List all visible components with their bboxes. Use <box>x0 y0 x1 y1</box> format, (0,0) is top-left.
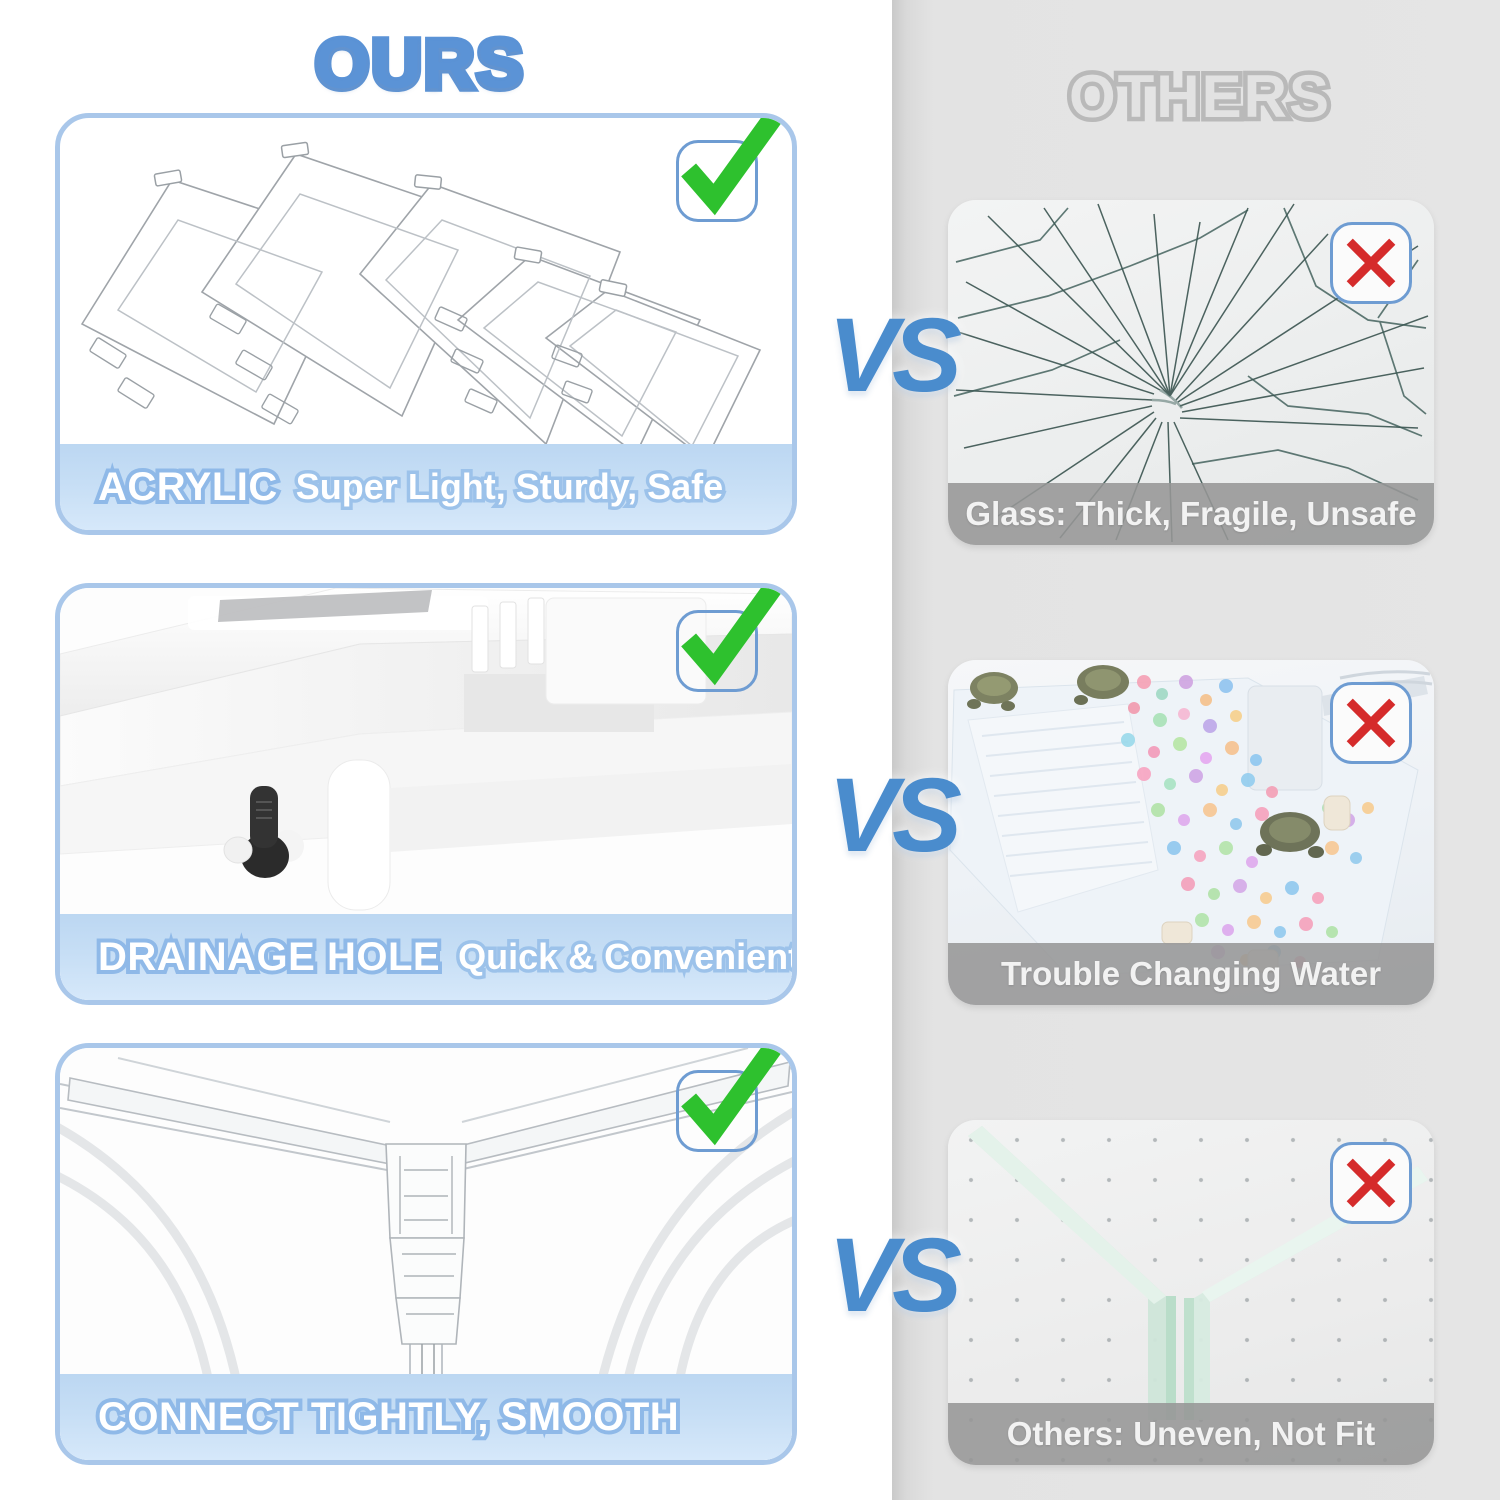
vs-label-3: VS <box>812 1216 972 1336</box>
check-badge <box>676 140 758 222</box>
others-caption-text-1: Glass: Thick, Fragile, Unsafe <box>965 495 1416 533</box>
ours-heading: OURS <box>0 24 840 104</box>
others-card-uneven-corner: Others: Uneven, Not Fit <box>948 1120 1434 1465</box>
x-badge <box>1330 1142 1412 1224</box>
ours-caption-highlight-2: DRAINAGE HOLE <box>98 935 440 980</box>
green-check-icon <box>665 1043 783 1157</box>
ours-caption-bar-1: ACRYLIC Super Light, Sturdy, Safe <box>60 444 792 530</box>
others-card-glass: Glass: Thick, Fragile, Unsafe <box>948 200 1434 545</box>
ours-card-drainage: DRAINAGE HOLE Quick & Convenient <box>55 583 797 1005</box>
ours-caption-bar-3: CONNECT TIGHTLY, SMOOTH <box>60 1374 792 1460</box>
vs-label-2: VS <box>812 756 972 876</box>
green-check-icon <box>665 113 783 227</box>
ours-card-acrylic: ACRYLIC Super Light, Sturdy, Safe <box>55 113 797 535</box>
x-badge <box>1330 682 1412 764</box>
others-heading-rest: THERS <box>1118 63 1331 130</box>
others-caption-text-2: Trouble Changing Water <box>1001 955 1381 993</box>
others-caption-bar-2: Trouble Changing Water <box>948 943 1434 1005</box>
ours-caption-text-2: Quick & Convenient <box>458 936 797 978</box>
vs-label-1: VS <box>812 296 972 416</box>
red-x-icon <box>1342 694 1400 752</box>
check-badge <box>676 610 758 692</box>
x-badge <box>1330 222 1412 304</box>
others-caption-bar-3: Others: Uneven, Not Fit <box>948 1403 1434 1465</box>
ours-caption-highlight-3: CONNECT TIGHTLY, SMOOTH <box>98 1395 679 1440</box>
green-check-icon <box>665 583 783 697</box>
others-heading: OTHERS <box>930 62 1470 131</box>
ours-card-connector: CONNECT TIGHTLY, SMOOTH <box>55 1043 797 1465</box>
others-card-water-change: Trouble Changing Water <box>948 660 1434 1005</box>
ours-caption-text-1: Super Light, Sturdy, Safe <box>296 466 723 508</box>
red-x-icon <box>1342 1154 1400 1212</box>
others-caption-bar-1: Glass: Thick, Fragile, Unsafe <box>948 483 1434 545</box>
comparison-infographic: OURS OTHERS <box>0 0 1500 1500</box>
red-x-icon <box>1342 234 1400 292</box>
check-badge <box>676 1070 758 1152</box>
ours-caption-bar-2: DRAINAGE HOLE Quick & Convenient <box>60 914 792 1000</box>
ours-caption-highlight-1: ACRYLIC <box>98 465 278 510</box>
others-caption-text-3: Others: Uneven, Not Fit <box>1007 1415 1376 1453</box>
others-heading-o: O <box>1069 62 1118 131</box>
